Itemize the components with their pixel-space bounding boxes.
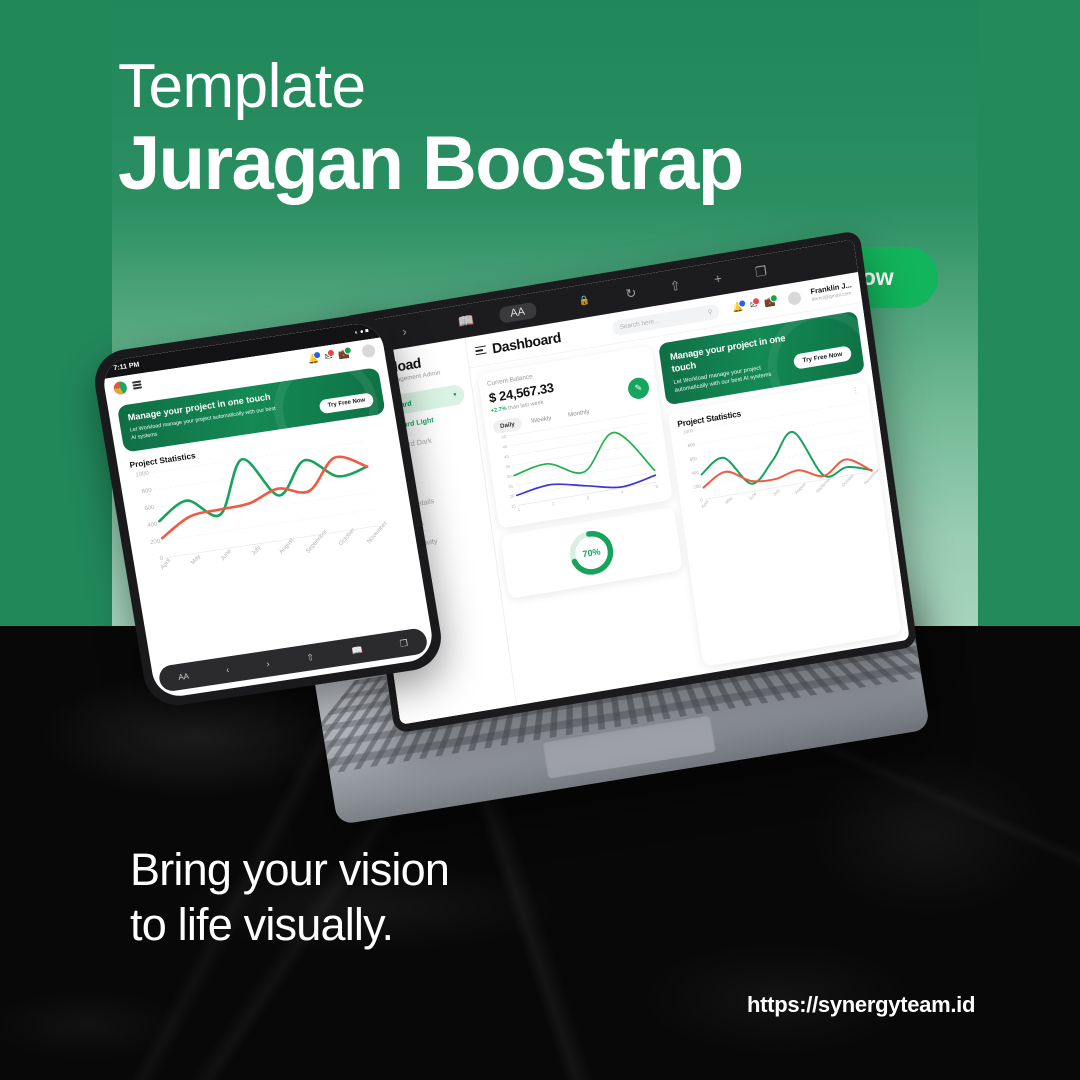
donut-chart: 70%: [562, 523, 621, 583]
svg-text:November: November: [366, 520, 389, 545]
svg-text:August: August: [794, 481, 808, 495]
topbar-icons: 🔔 ✉ 💼: [731, 296, 776, 314]
briefcase-icon[interactable]: 💼: [764, 296, 777, 309]
svg-text:1000: 1000: [135, 471, 150, 479]
svg-text:40: 40: [504, 454, 510, 460]
svg-text:800: 800: [141, 488, 153, 495]
chevron-right-icon[interactable]: ›: [266, 659, 271, 669]
aa-icon[interactable]: AA: [498, 301, 536, 323]
right-column: Manage your project in one touch Let Wor…: [658, 311, 902, 667]
bell-icon[interactable]: 🔔: [307, 352, 320, 365]
left-column: Current Balance $ 24,567.33 +2.7% than l…: [478, 345, 697, 697]
workload-logo-icon: [113, 380, 128, 395]
current-balance-card: Current Balance $ 24,567.33 +2.7% than l…: [478, 345, 673, 529]
avatar[interactable]: [361, 343, 376, 358]
svg-text:400: 400: [691, 470, 699, 476]
kebab-icon[interactable]: ⋮: [851, 389, 860, 395]
status-time: 7:11 PM: [113, 361, 140, 372]
svg-text:25: 25: [508, 483, 514, 489]
balance-delta-value: +2.7%: [490, 406, 507, 415]
tabs-icon[interactable]: ❐: [754, 263, 768, 281]
lock-icon: 🔒: [578, 295, 591, 308]
svg-text:1000: 1000: [683, 428, 694, 435]
tagline-line-1: Bring your vision: [130, 843, 449, 898]
svg-text:800: 800: [687, 442, 695, 448]
svg-text:400: 400: [147, 522, 159, 529]
svg-text:4: 4: [621, 489, 625, 494]
search-placeholder: Search here...: [619, 317, 660, 331]
tagline: Bring your vision to life visually.: [130, 843, 449, 953]
headline-top: Template: [118, 56, 743, 118]
svg-text:May: May: [724, 495, 734, 505]
plus-icon[interactable]: +: [713, 271, 723, 287]
svg-text:45: 45: [502, 444, 508, 450]
svg-text:15: 15: [511, 503, 517, 509]
svg-text:September: September: [305, 529, 329, 555]
svg-text:70%: 70%: [582, 546, 601, 559]
phone-toolbar-icons: 🔔 ✉ 💼: [307, 343, 376, 366]
bell-icon[interactable]: 🔔: [731, 301, 744, 314]
dashboard-body: Current Balance $ 24,567.33 +2.7% than l…: [470, 303, 910, 705]
book-icon[interactable]: 📖: [457, 312, 475, 331]
hamburger-icon[interactable]: [132, 379, 143, 391]
forward-icon[interactable]: ›: [401, 323, 407, 339]
dashboard-main: Dashboard Search here... ⚲ 🔔 ✉ 💼: [465, 272, 909, 705]
svg-text:50: 50: [501, 434, 507, 440]
headline-bottom: Juragan Boostrap: [118, 124, 743, 204]
project-statistics-card: ⋮ Project Statistics 10008006004002000Ap…: [668, 379, 902, 666]
aa-icon[interactable]: AA: [177, 671, 189, 681]
try-free-now-button[interactable]: Try Free Now: [319, 392, 374, 414]
headline-block: Template Juragan Boostrap: [118, 56, 743, 204]
svg-text:August: August: [279, 537, 296, 555]
svg-text:5: 5: [655, 484, 659, 489]
chevron-left-icon[interactable]: ‹: [225, 665, 230, 675]
user-name[interactable]: Franklin J... demo@gmail.com: [810, 280, 853, 302]
svg-text:3: 3: [586, 495, 590, 500]
svg-text:July: July: [251, 545, 263, 557]
briefcase-icon[interactable]: 💼: [337, 348, 350, 361]
tabs-icon[interactable]: ❐: [399, 637, 409, 649]
avatar[interactable]: [787, 290, 802, 305]
svg-text:200: 200: [693, 484, 701, 490]
svg-text:20: 20: [509, 493, 515, 499]
share-icon[interactable]: ⇧: [669, 277, 682, 295]
try-free-now-button[interactable]: Try Free Now: [793, 346, 852, 370]
status-icons: ◐ ● ■: [354, 328, 369, 336]
green-right-band: [978, 0, 1080, 626]
mail-icon[interactable]: ✉: [749, 299, 758, 311]
svg-text:June: June: [220, 548, 233, 562]
svg-text:1: 1: [517, 507, 521, 512]
svg-text:200: 200: [150, 539, 162, 546]
svg-text:600: 600: [689, 456, 697, 462]
svg-text:35: 35: [505, 464, 511, 470]
svg-text:May: May: [190, 554, 202, 566]
share-icon[interactable]: ⇧: [306, 651, 315, 663]
phone-screen: 7:11 PM ◐ ● ■ 🔔 ✉ 💼 Manage your project …: [100, 321, 435, 700]
hamburger-icon[interactable]: [474, 343, 487, 358]
phone-mockup: 7:11 PM ◐ ● ■ 🔔 ✉ 💼 Manage your project …: [90, 308, 445, 713]
svg-text:July: July: [772, 487, 782, 497]
svg-text:30: 30: [507, 473, 513, 479]
green-left-band: [0, 0, 112, 626]
book-icon[interactable]: 📖: [351, 644, 364, 657]
tagline-line-2: to life visually.: [130, 898, 449, 953]
mail-icon[interactable]: ✉: [324, 350, 333, 362]
svg-text:600: 600: [144, 505, 156, 512]
poster-canvas: Template Juragan Boostrap Order Now ‹ › …: [0, 0, 1080, 1080]
page-title: Dashboard: [491, 329, 562, 356]
chevron-down-icon: ▾: [453, 392, 457, 398]
search-icon: ⚲: [707, 308, 713, 317]
svg-text:2: 2: [552, 501, 556, 506]
reload-icon[interactable]: ↻: [625, 284, 638, 302]
site-url: https://synergyteam.id: [747, 992, 975, 1018]
